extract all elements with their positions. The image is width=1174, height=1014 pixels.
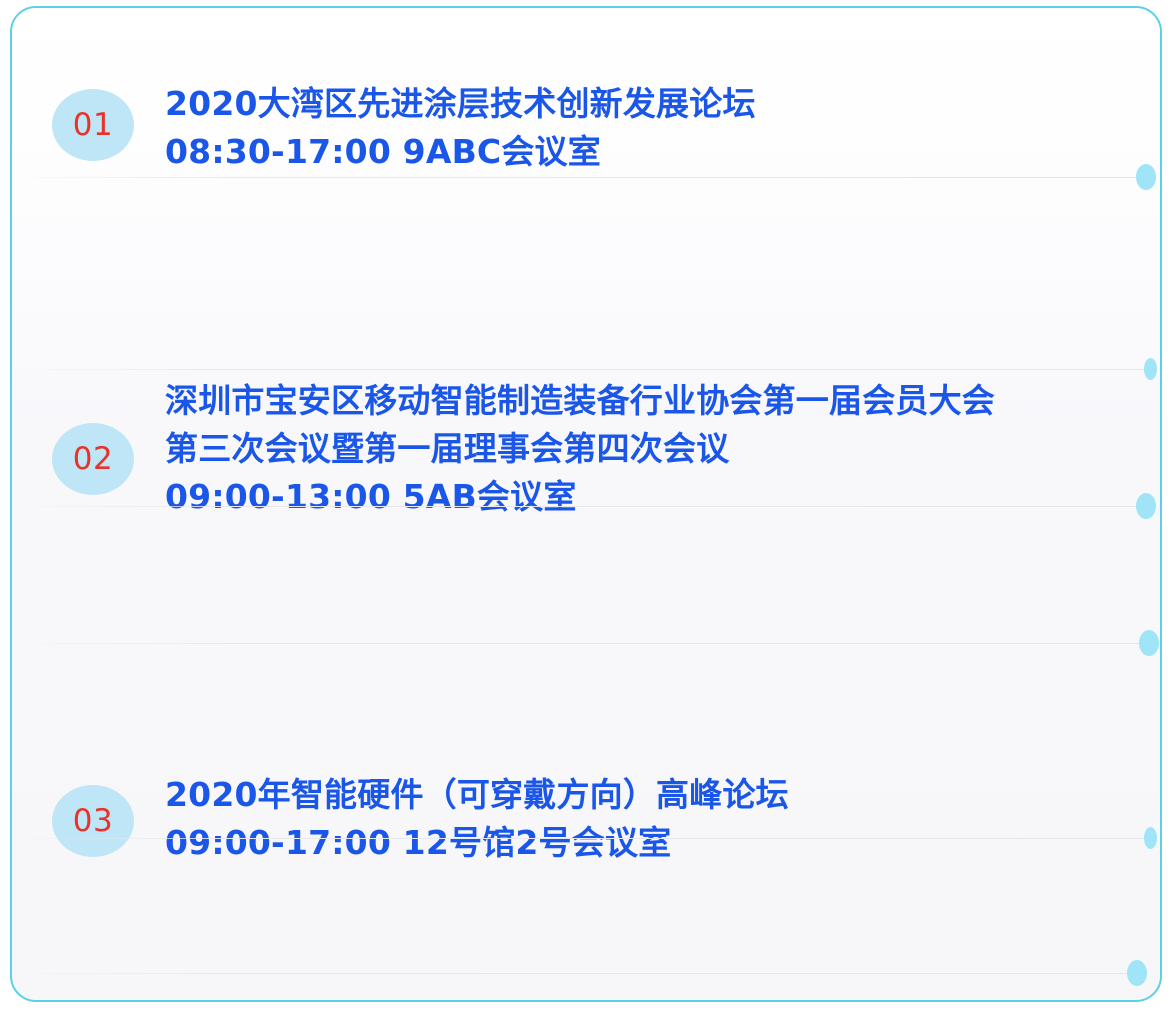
list-item[interactable]: 02 深圳市宝安区移动智能制造装备行业协会第一届会员大会 第三次会议暨第一届理事… — [12, 178, 1160, 373]
event-title: 2020大湾区先进涂层技术创新发展论坛 — [165, 80, 1120, 128]
list-item[interactable]: 01 2020大湾区先进涂层技术创新发展论坛 08:30-17:00 9ABC会… — [12, 8, 1160, 178]
list-item[interactable]: 03 2020年智能硬件（可穿戴方向）高峰论坛 09:00-17:00 12号馆… — [12, 373, 1160, 508]
event-number-badge: 01 — [52, 89, 134, 161]
list-item[interactable]: 06 广东省五金制品协会年会 16:00-21:00 格兰云天酒店 — [12, 840, 1160, 980]
event-time-venue: 08:30-17:00 9ABC会议室 — [165, 128, 1120, 176]
schedule-card: 01 2020大湾区先进涂层技术创新发展论坛 08:30-17:00 9ABC会… — [10, 6, 1162, 1002]
divider-dot-icon — [1127, 960, 1147, 986]
event-list: 01 2020大湾区先进涂层技术创新发展论坛 08:30-17:00 9ABC会… — [12, 8, 1160, 1000]
row-divider — [34, 643, 1150, 644]
event-number: 01 — [73, 110, 113, 141]
row-divider — [34, 973, 1138, 974]
row-divider — [34, 369, 1150, 370]
list-item[interactable]: 05 2020大湾区大宗跨境贸易一站式服务平台订单推介 （发布）会 13:30-… — [12, 645, 1160, 840]
list-item[interactable]: 04 中国刀协现代刀具应用技术研修班 09:30-17:00 5C会议室 — [12, 508, 1160, 643]
event-text: 2020大湾区先进涂层技术创新发展论坛 08:30-17:00 9ABC会议室 — [165, 80, 1120, 176]
row-divider — [34, 838, 1150, 839]
row-divider — [34, 506, 1147, 507]
